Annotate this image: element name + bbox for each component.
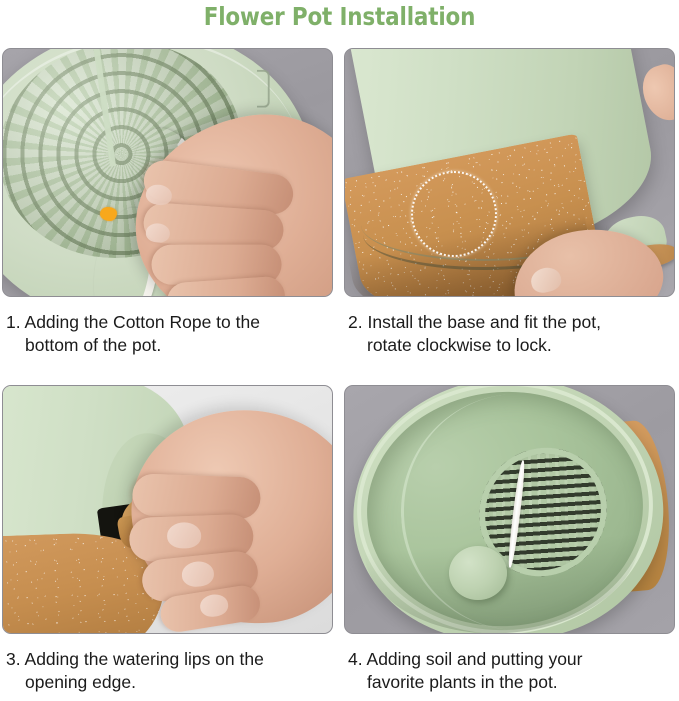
- step-number: 2.: [348, 312, 363, 332]
- step-text-line1: Adding the Cotton Rope to the: [25, 312, 260, 332]
- step-text-line2: opening edge.: [6, 671, 335, 694]
- step-card-4: 4. Adding soil and putting your favorite…: [344, 385, 677, 694]
- step-1-caption: 1. Adding the Cotton Rope to the bottom …: [2, 311, 335, 357]
- step-4-photo: [344, 385, 675, 634]
- step-2-caption: 2. Install the base and fit the pot, rot…: [344, 311, 677, 357]
- step-1-photo: [2, 48, 333, 297]
- step-text-line2: favorite plants in the pot.: [348, 671, 677, 694]
- step-3-photo: [2, 385, 333, 634]
- pot-notch-icon: [257, 70, 270, 108]
- dotted-highlight-circle: [411, 171, 497, 257]
- step-text-line1: Adding the watering lips on the: [25, 649, 264, 669]
- step-number: 3.: [6, 649, 21, 669]
- step-card-2: 2. Install the base and fit the pot, rot…: [344, 48, 677, 357]
- step-card-1: 1. Adding the Cotton Rope to the bottom …: [2, 48, 335, 357]
- step-2-photo: [344, 48, 675, 297]
- step-text-line1: Install the base and fit the pot,: [367, 312, 601, 332]
- step-number: 4.: [348, 649, 363, 669]
- step-number: 1.: [6, 312, 21, 332]
- step-4-caption: 4. Adding soil and putting your favorite…: [344, 648, 677, 694]
- step-text-line1: Adding soil and putting your: [367, 649, 583, 669]
- step-3-caption: 3. Adding the watering lips on the openi…: [2, 648, 335, 694]
- finger: [132, 473, 261, 519]
- steps-grid: 1. Adding the Cotton Rope to the bottom …: [0, 48, 679, 701]
- knob: [449, 546, 507, 600]
- step-text-line2: bottom of the pot.: [6, 334, 335, 357]
- orange-marker-lower: [100, 207, 117, 221]
- page-title: Flower Pot Installation: [48, 2, 632, 31]
- fingernail: [167, 522, 201, 548]
- infographic-root: Flower Pot Installation: [0, 0, 679, 701]
- step-card-3: 3. Adding the watering lips on the openi…: [2, 385, 335, 694]
- step-text-line2: rotate clockwise to lock.: [348, 334, 677, 357]
